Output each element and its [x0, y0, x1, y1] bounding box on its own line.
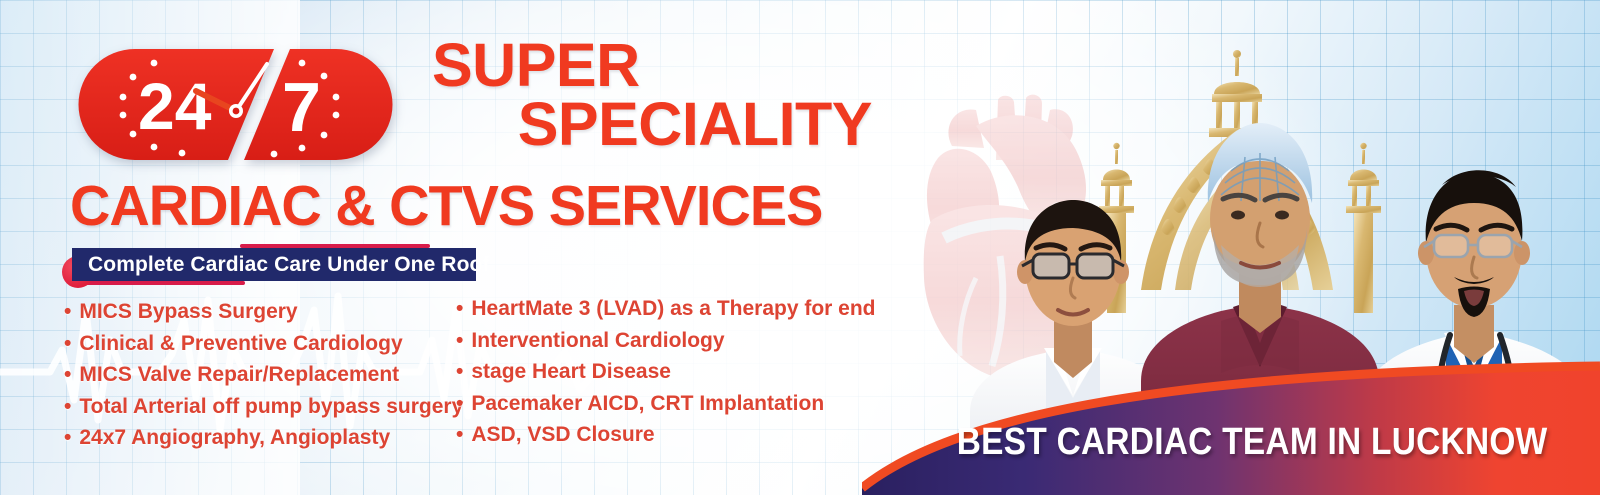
svg-text:7: 7	[282, 68, 321, 146]
list-item: Interventional Cardiology	[456, 330, 876, 351]
services-list-left: MICS Bypass Surgery Clinical & Preventiv…	[64, 301, 463, 459]
list-item: HeartMate 3 (LVAD) as a Therapy for end	[456, 298, 876, 319]
list-item: Clinical & Preventive Cardiology	[64, 333, 463, 354]
logo-247-clock-icon: 24 7	[78, 47, 393, 162]
list-item: Pacemaker AICD, CRT Implantation	[456, 393, 876, 414]
list-item: stage Heart Disease	[456, 361, 876, 382]
tagline-text: Complete Cardiac Care Under One Roof	[88, 248, 490, 281]
list-item: ASD, VSD Closure	[456, 424, 876, 445]
svg-text:24: 24	[138, 69, 212, 143]
bottom-banner: BEST CARDIAC TEAM IN LUCKNOW	[862, 360, 1600, 495]
list-item: MICS Bypass Surgery	[64, 301, 463, 322]
page-title: SUPER SPECIALITY	[432, 36, 872, 153]
services-list-right: HeartMate 3 (LVAD) as a Therapy for end …	[456, 298, 876, 456]
headline-subline: CARDIAC & CTVS SERVICES	[70, 178, 844, 235]
headline-line-1: SUPER	[432, 31, 640, 99]
tagline-banner: Complete Cardiac Care Under One Roof	[58, 240, 488, 288]
list-item: MICS Valve Repair/Replacement	[64, 364, 463, 385]
list-item: Total Arterial off pump bypass surgery	[64, 396, 463, 417]
bottom-banner-text: BEST CARDIAC TEAM IN LUCKNOW	[906, 360, 1555, 495]
list-item: 24x7 Angiography, Angioplasty	[64, 427, 463, 448]
tagline-accent-line-bottom	[80, 281, 245, 285]
headline-line-2: SPECIALITY	[432, 95, 872, 154]
cardiac-services-banner: 24 7 SUPER SPECIALITY CARDIAC & CTVS SER…	[0, 0, 1600, 495]
